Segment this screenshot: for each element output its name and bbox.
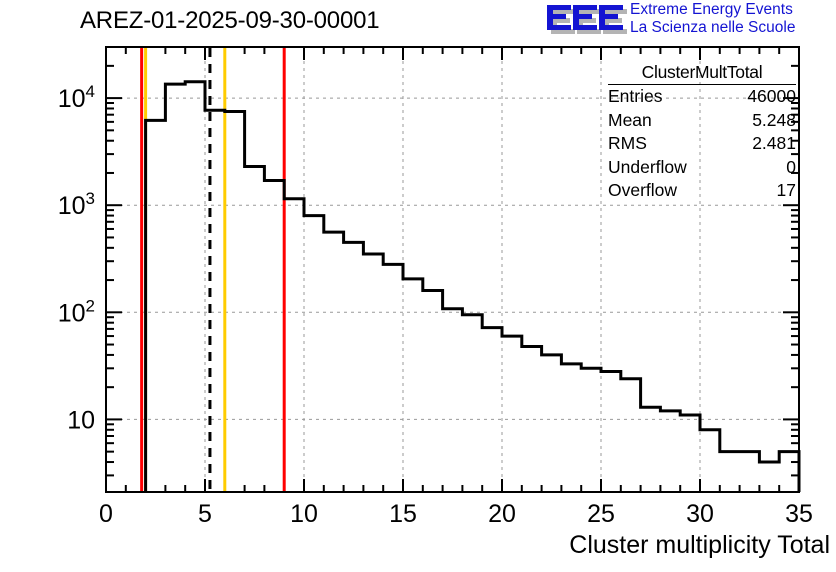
y-axis-tick-labels: 10102103104: [58, 82, 95, 434]
x-tick-label: 10: [290, 500, 318, 528]
y-tick-label: 104: [58, 82, 95, 113]
stats-value: 5.248: [752, 109, 796, 133]
x-axis-tick-labels: 05101520253035: [99, 500, 813, 528]
stats-row-overflow: Overflow 17: [608, 179, 796, 203]
y-tick-label: 103: [58, 189, 95, 220]
stats-row-rms: RMS 2.481: [608, 132, 796, 156]
stats-value: 2.481: [752, 132, 796, 156]
stats-key: RMS: [608, 132, 647, 156]
stats-row-entries: Entries 46000: [608, 85, 796, 109]
x-tick-label: 35: [785, 500, 813, 528]
stats-key: Underflow: [608, 156, 687, 180]
x-tick-label: 30: [686, 500, 714, 528]
stats-value: 46000: [747, 85, 796, 109]
vertical-marker-lines: [142, 48, 285, 491]
x-tick-label: 20: [488, 500, 516, 528]
x-tick-label: 25: [587, 500, 615, 528]
y-tick-label: 10: [67, 406, 95, 434]
stats-key: Entries: [608, 85, 662, 109]
y-tick-label: 102: [58, 296, 95, 327]
stats-box: ClusterMultTotal Entries 46000 Mean 5.24…: [608, 62, 796, 203]
x-tick-label: 15: [389, 500, 417, 528]
stats-box-title: ClusterMultTotal: [608, 62, 796, 85]
stats-key: Overflow: [608, 179, 677, 203]
x-tick-label: 5: [198, 500, 212, 528]
x-axis-title: Cluster multiplicity Total: [569, 531, 830, 560]
stats-value: 0: [786, 156, 796, 180]
x-tick-label: 0: [99, 500, 113, 528]
root-canvas: AREZ-01-2025-09-30-00001: [0, 0, 836, 572]
stats-value: 17: [777, 179, 796, 203]
stats-key: Mean: [608, 109, 652, 133]
stats-row-mean: Mean 5.248: [608, 109, 796, 133]
stats-row-underflow: Underflow 0: [608, 156, 796, 180]
